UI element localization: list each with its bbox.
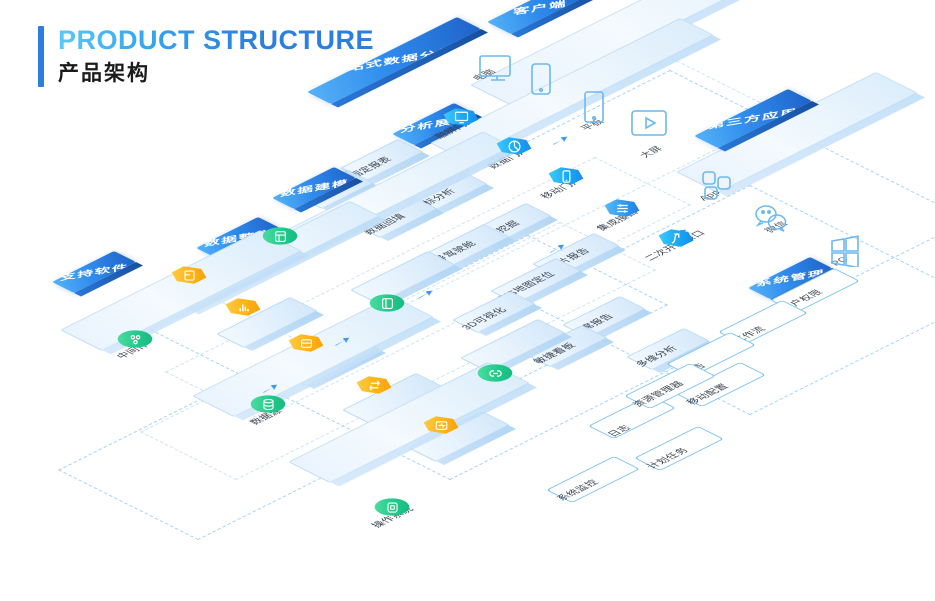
desktop-icon [477,53,517,87]
flow-arrow-1 [551,133,569,151]
os-icon [385,500,400,515]
link-icon [488,366,503,381]
icon-integration-api [605,191,639,225]
phone-icon [559,169,574,184]
icon-convert [289,326,323,360]
banner-platform: ABI一站式数据分析平台 [307,17,481,104]
api-icon [615,201,630,216]
app-grid-icon [700,168,734,202]
dim-icon [380,296,395,311]
icon-schedule [357,368,391,402]
database-icon [261,397,276,412]
pie-icon [507,139,522,154]
architecture-diagram: 客户端 电脑 手机 平板 大屏 第三方应用 [0,0,935,601]
icon-secondary-dev [659,221,693,255]
middleware-icon [128,332,143,347]
dev-icon [669,231,684,246]
banner-client: 客户端 [487,0,593,34]
convert-icon [299,336,314,351]
icon-os [375,490,409,524]
sysmgmt-card-7 [546,456,640,503]
windows-icon [828,233,862,267]
icon-extract [172,258,206,292]
table-icon [273,229,288,244]
icon-relation [478,356,512,390]
icon-middleware [118,322,152,356]
icon-data-portal [497,129,531,163]
icon-dim-table [370,286,404,320]
mobile-icon [528,61,554,99]
clean-icon [236,300,251,315]
icon-monitor [424,408,458,442]
banner-support: 支持软件 [52,251,136,293]
icon-subject-table [263,219,297,253]
schedule-icon [367,378,382,393]
icon-screen-portal [444,100,478,134]
tablet-icon [581,90,607,126]
monitor-icon [434,418,449,433]
banner-support-label: 支持软件 [60,261,129,283]
flow-arrow-5 [333,334,351,352]
icon-clean [226,290,260,324]
banner-client-label: 客户端 [513,0,567,18]
bigscreen-icon [629,108,671,140]
flow-arrow-4 [416,287,434,305]
sysmgmt-card-6 [634,426,724,471]
screen-icon [454,110,469,125]
wechat-icon [753,203,789,233]
extract-icon [182,268,197,283]
icon-datasource [251,387,285,421]
flow-arrow-3 [548,241,566,259]
icon-mobile-portal [549,159,583,193]
banner-platform-label: ABI一站式数据分析平台 [297,38,492,82]
